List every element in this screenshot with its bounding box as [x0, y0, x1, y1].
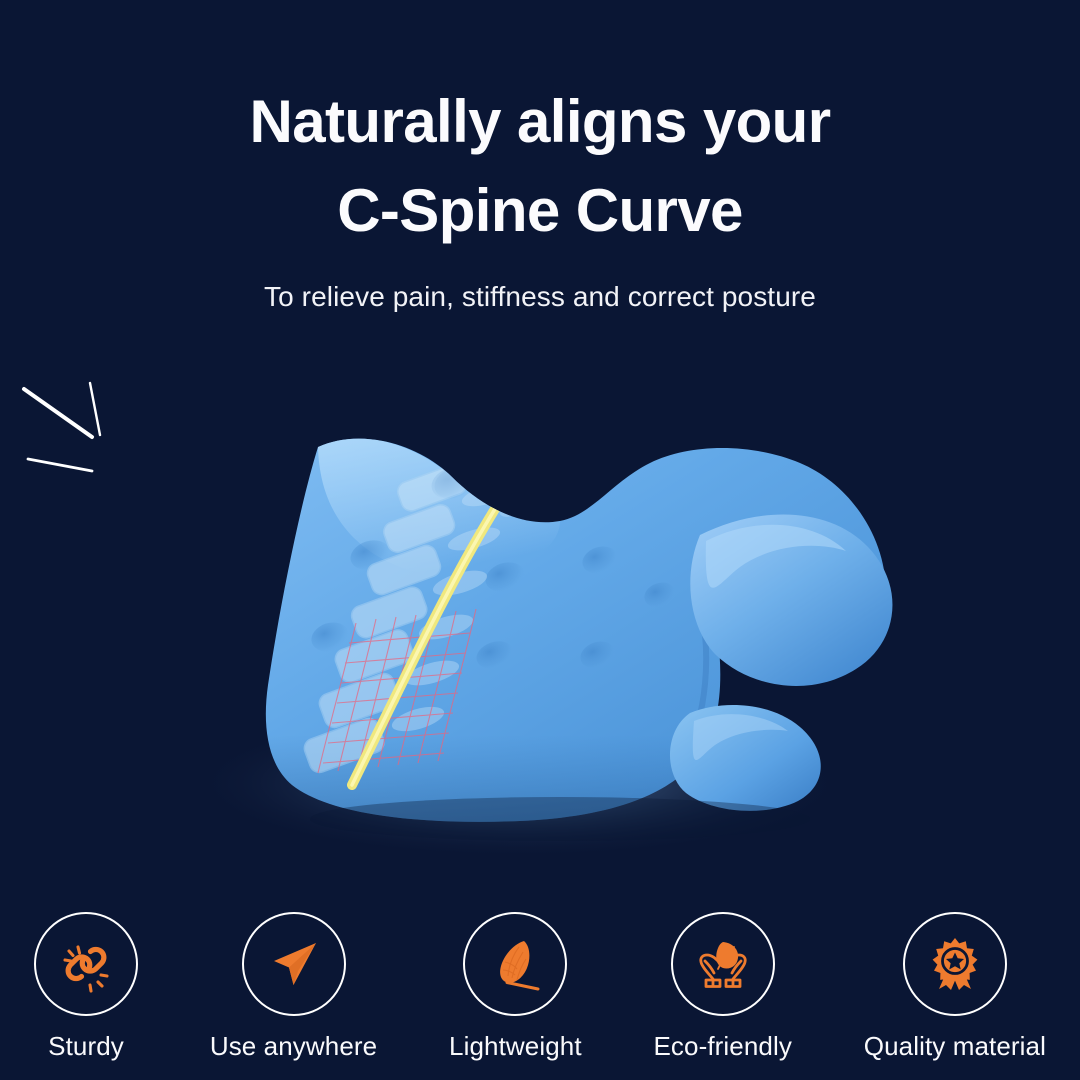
- paper-plane-icon: [265, 935, 323, 993]
- product-image: [0, 355, 1080, 875]
- headline-line-2: C-Spine Curve: [0, 167, 1080, 256]
- feature-icon-circle: [463, 912, 567, 1016]
- hands-leaf-icon: [693, 934, 753, 994]
- feature-icon-circle: [242, 912, 346, 1016]
- feature-label: Eco-friendly: [653, 1031, 791, 1062]
- feature-label: Lightweight: [449, 1031, 582, 1062]
- headline-line-1: Naturally aligns your: [0, 78, 1080, 167]
- feature-label: Sturdy: [48, 1031, 124, 1062]
- feature-icon-circle: [903, 912, 1007, 1016]
- page-subtitle: To relieve pain, stiffness and correct p…: [0, 281, 1080, 313]
- feature-item-eco-friendly[interactable]: Eco-friendly: [653, 912, 791, 1062]
- sparkle-lines: [24, 383, 100, 471]
- feature-icon-circle: [34, 912, 138, 1016]
- feature-list: Sturdy Use anywhere: [0, 912, 1080, 1062]
- feature-label: Quality material: [864, 1031, 1046, 1062]
- award-badge-icon: [926, 935, 984, 993]
- broken-chain-icon: [57, 935, 115, 993]
- feature-item-lightweight[interactable]: Lightweight: [449, 912, 582, 1062]
- feature-item-use-anywhere[interactable]: Use anywhere: [210, 912, 377, 1062]
- feature-icon-circle: [671, 912, 775, 1016]
- page-title: Naturally aligns your C-Spine Curve: [0, 78, 1080, 256]
- feather-icon: [486, 935, 544, 993]
- feature-item-sturdy[interactable]: Sturdy: [34, 912, 138, 1062]
- feature-label: Use anywhere: [210, 1031, 377, 1062]
- feature-item-quality-material[interactable]: Quality material: [864, 912, 1046, 1062]
